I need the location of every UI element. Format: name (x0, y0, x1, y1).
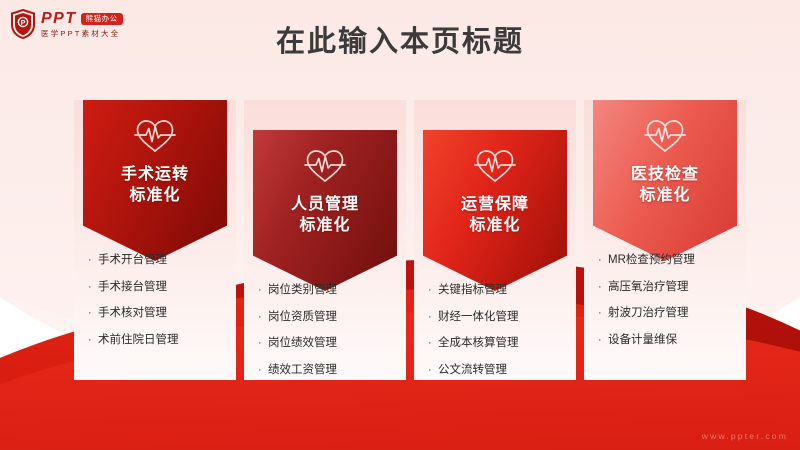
list-item[interactable]: ·手术接台管理 (88, 282, 228, 294)
bullet-marker: · (258, 312, 268, 323)
list-item-label: 射波刀治疗管理 (608, 308, 689, 320)
logo-text-block: PPT 熊猫办公 医学PPT素材大全 (41, 11, 123, 38)
svg-text:P: P (21, 20, 26, 27)
bullet-marker: · (598, 335, 608, 346)
site-watermark: www.ppter.com (702, 431, 788, 441)
list-item-label: 设备计量维保 (608, 335, 677, 347)
heart-pulse-icon (253, 146, 397, 186)
column-operations-assurance[interactable]: 运营保障 标准化 ·关键指标管理 ·财经一体化管理 ·全成本核算管理 ·公文流转… (414, 100, 576, 380)
list-item[interactable]: ·关键指标管理 (428, 285, 568, 297)
column-group: 手术运转 标准化 ·手术开台管理 ·手术接台管理 ·手术核对管理 ·术前住院日管… (74, 100, 746, 380)
bullet-marker: · (88, 308, 98, 319)
column-title: 运营保障 标准化 (423, 194, 567, 236)
list-item-label: MR检查预约管理 (608, 255, 695, 267)
bullet-marker: · (598, 282, 608, 293)
heart-pulse-icon (83, 116, 227, 156)
heart-pulse-icon (423, 146, 567, 186)
bullet-marker: · (258, 365, 268, 376)
bullet-marker: · (88, 282, 98, 293)
brand-logo: P PPT 熊猫办公 医学PPT素材大全 (10, 9, 123, 39)
list-item-label: 手术接台管理 (98, 282, 167, 294)
logo-subtitle: 医学PPT素材大全 (41, 30, 123, 38)
bullet-marker: · (598, 255, 608, 266)
column-bullet-list: ·岗位类别管理 ·岗位资质管理 ·岗位绩效管理 ·绩效工资管理 (258, 285, 398, 391)
list-item[interactable]: ·MR检查预约管理 (598, 255, 738, 267)
bullet-marker: · (88, 335, 98, 346)
bullet-marker: · (428, 312, 438, 323)
list-item-label: 岗位类别管理 (268, 285, 337, 297)
bullet-marker: · (428, 338, 438, 349)
column-title: 医技检查 标准化 (593, 164, 737, 206)
column-bullet-list: ·关键指标管理 ·财经一体化管理 ·全成本核算管理 ·公文流转管理 (428, 285, 568, 391)
list-item-label: 绩效工资管理 (268, 365, 337, 377)
column-bullet-list: ·手术开台管理 ·手术接台管理 ·手术核对管理 ·术前住院日管理 (88, 255, 228, 361)
list-item-label: 手术核对管理 (98, 308, 167, 320)
list-item[interactable]: ·财经一体化管理 (428, 312, 568, 324)
list-item[interactable]: ·手术核对管理 (88, 308, 228, 320)
column-personnel-management[interactable]: 人员管理 标准化 ·岗位类别管理 ·岗位资质管理 ·岗位绩效管理 ·绩效工资管理 (244, 100, 406, 380)
column-title: 人员管理 标准化 (253, 194, 397, 236)
column-surgery-operations[interactable]: 手术运转 标准化 ·手术开台管理 ·手术接台管理 ·手术核对管理 ·术前住院日管… (74, 100, 236, 380)
list-item[interactable]: ·绩效工资管理 (258, 365, 398, 377)
bullet-marker: · (428, 365, 438, 376)
list-item-label: 公文流转管理 (438, 365, 507, 377)
list-item-label: 关键指标管理 (438, 285, 507, 297)
list-item[interactable]: ·术前住院日管理 (88, 335, 228, 347)
column-medical-technical-exam[interactable]: 医技检查 标准化 ·MR检查预约管理 ·高压氧治疗管理 ·射波刀治疗管理 ·设备… (584, 100, 746, 380)
list-item[interactable]: ·岗位绩效管理 (258, 338, 398, 350)
list-item[interactable]: ·设备计量维保 (598, 335, 738, 347)
bullet-marker: · (88, 255, 98, 266)
list-item[interactable]: ·岗位类别管理 (258, 285, 398, 297)
list-item-label: 高压氧治疗管理 (608, 282, 689, 294)
list-item-label: 手术开台管理 (98, 255, 167, 267)
list-item-label: 术前住院日管理 (98, 335, 179, 347)
list-item-label: 岗位绩效管理 (268, 338, 337, 350)
list-item-label: 财经一体化管理 (438, 312, 519, 324)
shield-p-icon: P (10, 9, 36, 39)
bullet-marker: · (428, 285, 438, 296)
logo-badge: 熊猫办公 (81, 13, 123, 25)
list-item[interactable]: ·公文流转管理 (428, 365, 568, 377)
list-item[interactable]: ·岗位资质管理 (258, 312, 398, 324)
column-bullet-list: ·MR检查预约管理 ·高压氧治疗管理 ·射波刀治疗管理 ·设备计量维保 (598, 255, 738, 361)
list-item[interactable]: ·全成本核算管理 (428, 338, 568, 350)
bullet-marker: · (598, 308, 608, 319)
bullet-marker: · (258, 338, 268, 349)
list-item[interactable]: ·射波刀治疗管理 (598, 308, 738, 320)
slide-canvas: P PPT 熊猫办公 医学PPT素材大全 在此输入本页标题 (0, 0, 800, 450)
heart-pulse-icon (593, 116, 737, 156)
logo-brand: PPT (41, 11, 77, 27)
bullet-marker: · (258, 285, 268, 296)
list-item[interactable]: ·手术开台管理 (88, 255, 228, 267)
column-title: 手术运转 标准化 (83, 164, 227, 206)
list-item[interactable]: ·高压氧治疗管理 (598, 282, 738, 294)
list-item-label: 全成本核算管理 (438, 338, 519, 350)
list-item-label: 岗位资质管理 (268, 312, 337, 324)
